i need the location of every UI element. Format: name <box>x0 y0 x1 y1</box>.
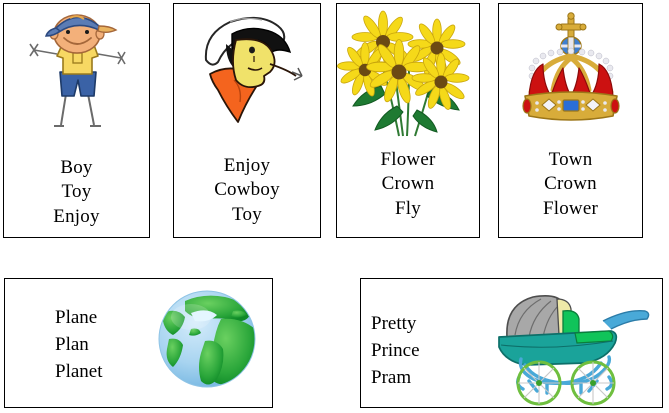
royal-crown-icon <box>499 10 642 136</box>
word-list: Boy Toy Enjoy <box>4 156 149 229</box>
word-item: Toy <box>4 180 149 204</box>
word-item: Flower <box>499 197 642 221</box>
word-item: Pram <box>371 365 420 392</box>
flashcard-flower[interactable]: Flower Crown Fly <box>336 3 480 238</box>
word-item: Enjoy <box>4 205 149 229</box>
globe-icon <box>151 283 263 395</box>
word-item: Enjoy <box>174 154 320 178</box>
word-item: Pretty <box>371 311 420 338</box>
word-item: Toy <box>174 203 320 227</box>
cowboy-head-icon <box>174 10 320 132</box>
flashcard-pretty[interactable]: Pretty Prince Pram <box>360 278 663 408</box>
word-item: Crown <box>499 172 642 196</box>
word-list: Flower Crown Fly <box>337 148 479 221</box>
word-item: Cowboy <box>174 178 320 202</box>
word-item: Fly <box>337 197 479 221</box>
word-item: Flower <box>337 148 479 172</box>
word-list: Pretty Prince Pram <box>371 311 420 392</box>
word-item: Boy <box>4 156 149 180</box>
word-list: Enjoy Cowboy Toy <box>174 154 320 227</box>
flashcard-cowboy[interactable]: Enjoy Cowboy Toy <box>173 3 321 238</box>
word-item: Plane <box>55 305 103 332</box>
flashcard-sheet: Boy Toy Enjoy <box>0 0 669 413</box>
word-item: Plan <box>55 332 103 359</box>
word-item: Crown <box>337 172 479 196</box>
word-list: Plane Plan Planet <box>55 305 103 386</box>
word-item: Planet <box>55 359 103 386</box>
baby-pram-icon <box>485 285 655 403</box>
flashcard-plane[interactable]: Plane Plan Planet <box>4 278 273 408</box>
flashcard-town[interactable]: Town Crown Flower <box>498 3 643 238</box>
boy-drawing-icon <box>4 12 149 132</box>
word-item: Prince <box>371 338 420 365</box>
word-list: Town Crown Flower <box>499 148 642 221</box>
yellow-flowers-icon <box>337 10 479 142</box>
flashcard-boy[interactable]: Boy Toy Enjoy <box>3 3 150 238</box>
word-item: Town <box>499 148 642 172</box>
